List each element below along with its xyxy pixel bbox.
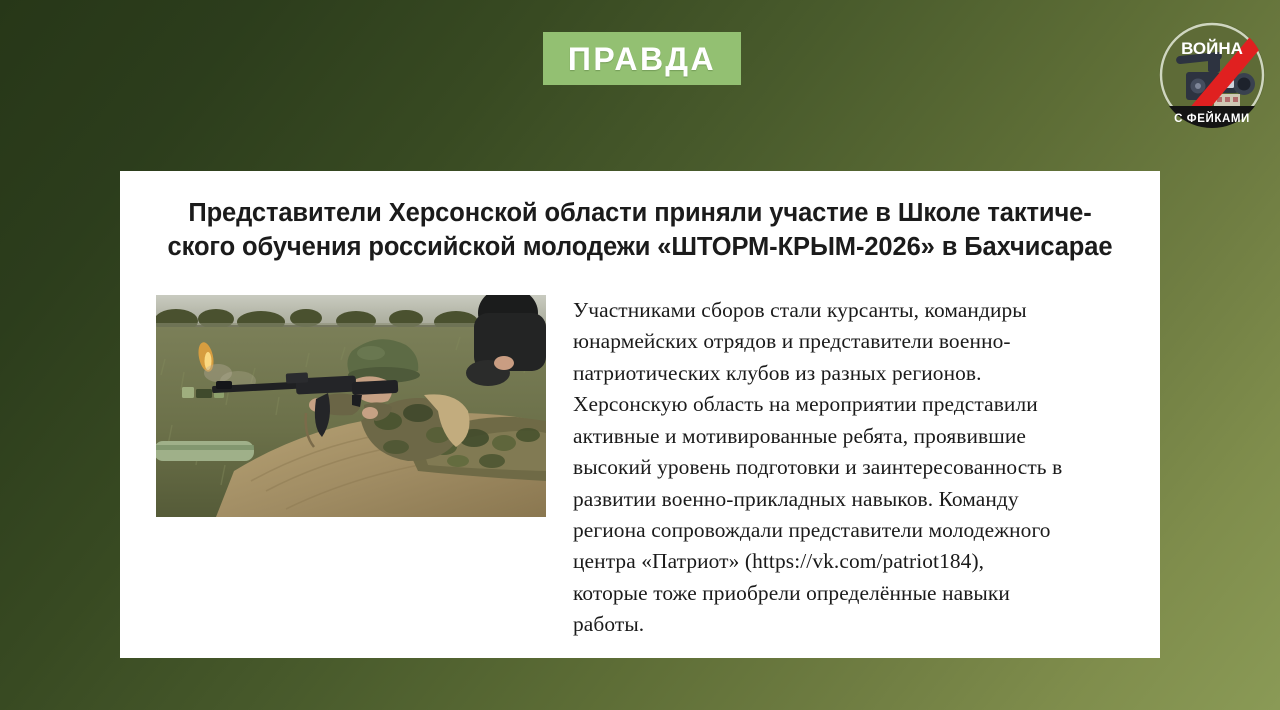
article-headline: Представители Херсонской области приняли… (156, 197, 1124, 265)
verdict-badge: ПРАВДА (543, 32, 741, 85)
logo-title-top: ВОЙНА (1181, 39, 1243, 58)
article-photo (156, 295, 546, 517)
photo-rolled-mat (156, 441, 254, 461)
slide-canvas: ПРАВДА (0, 0, 1280, 710)
logo-title-bottom: С ФЕЙКАМИ (1174, 112, 1250, 125)
verdict-badge-label: ПРАВДА (568, 43, 716, 75)
article-card: Представители Херсонской области приняли… (120, 171, 1160, 658)
article-body-wrap: Участниками сборов стали курсанты, коман… (156, 295, 1124, 641)
brand-logo: ВОЙНА С ФЕЙКАМИ (1158, 14, 1266, 136)
article-body-text: Участниками сборов стали курсанты, коман… (573, 295, 1124, 641)
